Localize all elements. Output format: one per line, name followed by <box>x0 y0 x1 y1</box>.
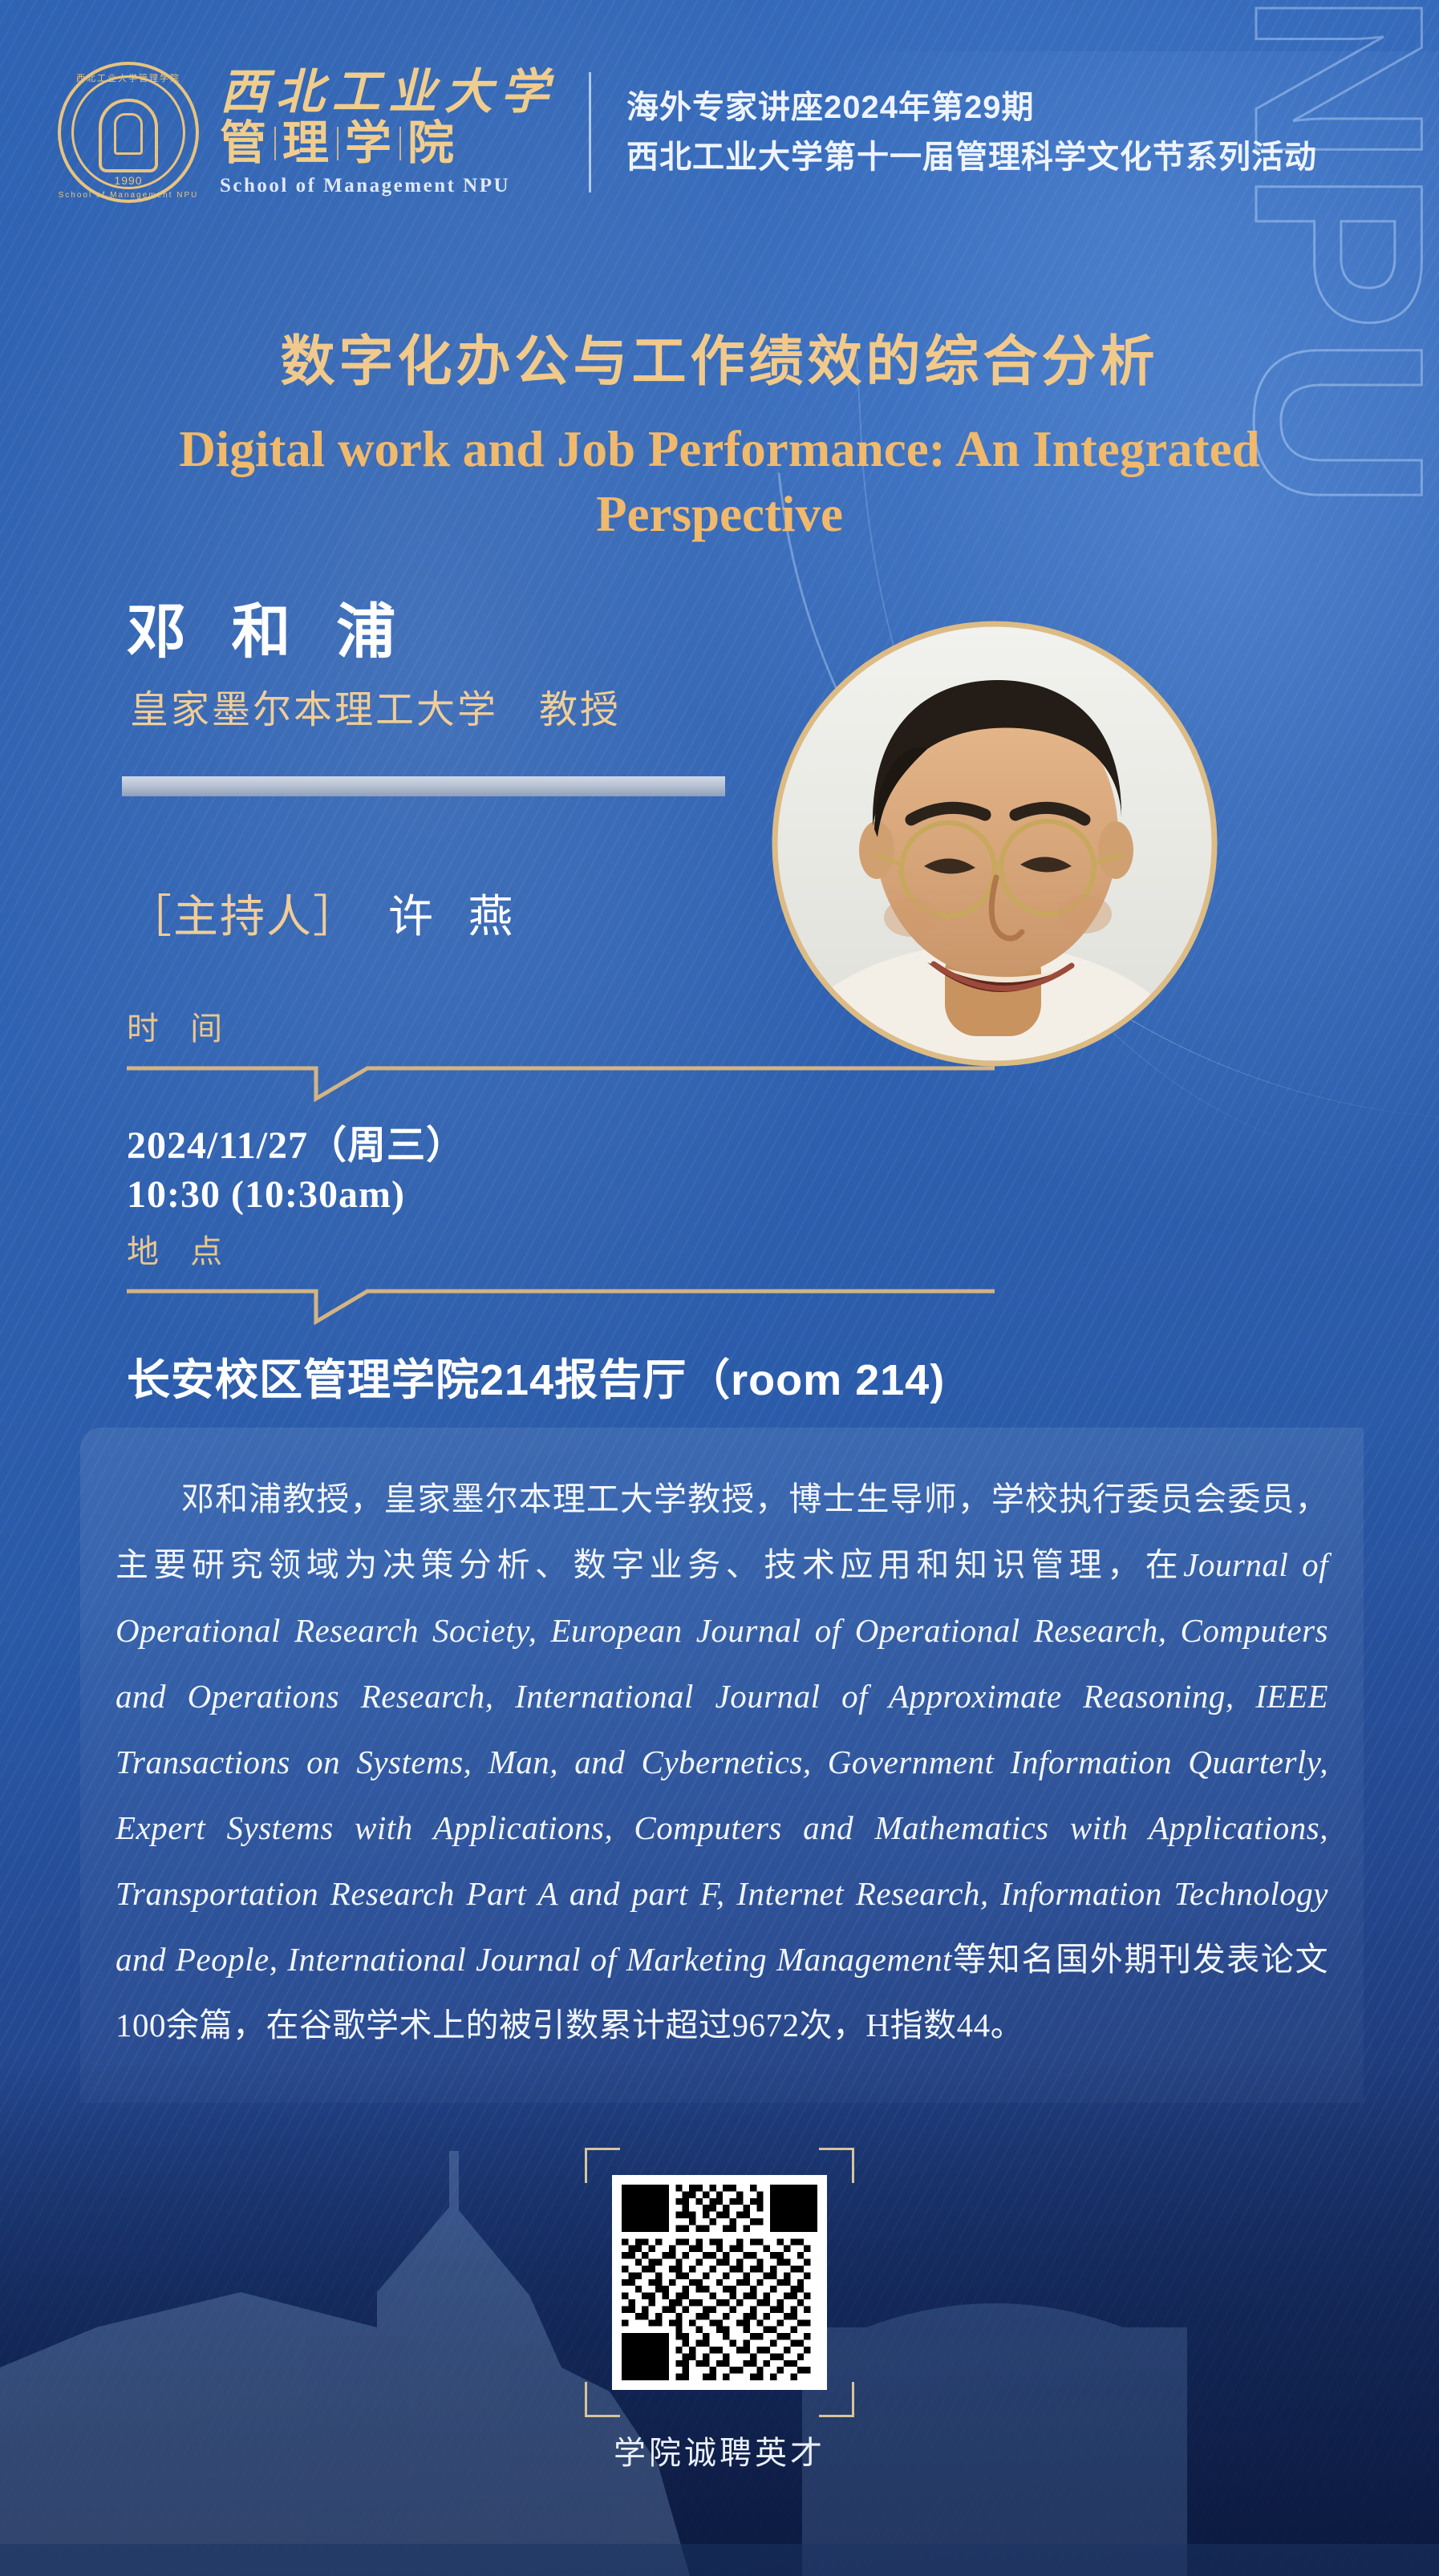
place-value: 长安校区管理学院214报告厅（room 214) <box>127 1344 1001 1407</box>
header-line-2: 西北工业大学第十一届管理科学文化节系列活动 <box>626 132 1317 182</box>
corner-bracket-bottom-left-icon <box>585 2382 620 2417</box>
time-clock: 10:30 (10:30am) <box>127 1170 1001 1219</box>
university-name-cn: 西北工业大学 <box>220 67 557 118</box>
speaker-portrait <box>770 619 1219 1068</box>
header-divider <box>589 72 591 192</box>
qr-caption: 学院诚聘英才 <box>612 2427 827 2473</box>
speaker-affiliation: 皇家墨尔本理工大学 教授 <box>130 678 621 734</box>
speaker-bio-text: 邓和浦教授，皇家墨尔本理工大学教授，博士生导师，学校执行委员会委员，主要研究领域… <box>116 1466 1328 2058</box>
silver-divider-bar <box>122 776 725 796</box>
logo-wordmark: 西北工业大学 管理学院 School of Management NPU <box>220 67 557 197</box>
seal-arc-top-text: 西北工业大学管理学院 <box>58 71 199 84</box>
corner-bracket-top-right-icon <box>819 2148 854 2183</box>
corner-bracket-bottom-right-icon <box>819 2382 854 2417</box>
time-value: 2024/11/27（周三） 10:30 (10:30am) <box>127 1121 1001 1220</box>
speaker-bio-panel: 邓和浦教授，皇家墨尔本理工大学教授，博士生导师，学校执行委员会委员，主要研究领域… <box>80 1428 1364 2103</box>
lecture-title-en: Digital work and Job Performance: An Int… <box>96 417 1343 546</box>
qr-code-icon[interactable] <box>612 2175 827 2390</box>
host-label: ［主持人］ <box>127 881 359 946</box>
header-series-info: 海外专家讲座2024年第29期 西北工业大学第十一届管理科学文化节系列活动 <box>626 83 1317 182</box>
school-name-cn: 管理学院 <box>220 119 557 168</box>
school-logo: 西北工业大学管理学院 1990 School of Management NPU… <box>58 62 557 203</box>
school-name-en: School of Management NPU <box>220 175 557 197</box>
bio-journal-list: Journal of Operational Research Society,… <box>116 1546 1328 1978</box>
place-field: 地 点 长安校区管理学院214报告厅（room 214) <box>127 1225 1001 1407</box>
place-notch-rule <box>127 1283 1001 1330</box>
qr-code-zone[interactable]: 学院诚聘英才 <box>612 2175 827 2473</box>
time-notch-rule <box>127 1060 1001 1107</box>
time-field: 时 间 2024/11/27（周三） 10:30 (10:30am) <box>127 1002 1001 1220</box>
time-label: 时 间 <box>127 1002 1001 1049</box>
lecture-title-cn: 数字化办公与工作绩效的综合分析 <box>96 317 1343 396</box>
place-label: 地 点 <box>127 1225 1001 1272</box>
seal-bell-glyph <box>99 99 158 172</box>
seal-arc-bottom-text: School of Management NPU <box>58 191 199 200</box>
speaker-name: 邓 和 浦 <box>127 584 410 670</box>
time-date: 2024/11/27（周三） <box>127 1121 1001 1170</box>
qr-frame <box>612 2175 827 2390</box>
lecture-poster: NPU 西北工业大学管理学院 1990 School of Management… <box>0 0 1439 2576</box>
poster-header: 西北工业大学管理学院 1990 School of Management NPU… <box>0 48 1439 217</box>
host-row: ［主持人］ 许 燕 <box>127 881 525 946</box>
corner-bracket-top-left-icon <box>585 2148 620 2183</box>
university-seal-icon: 西北工业大学管理学院 1990 School of Management NPU <box>58 62 199 203</box>
bio-part-1: 邓和浦教授，皇家墨尔本理工大学教授，博士生导师，学校执行委员会委员，主要研究领域… <box>116 1480 1328 1583</box>
lecture-title-block: 数字化办公与工作绩效的综合分析 Digital work and Job Per… <box>0 317 1439 546</box>
place-value-wrap: 长安校区管理学院214报告厅（room 214) <box>127 1344 1001 1407</box>
header-line-1: 海外专家讲座2024年第29期 <box>626 83 1317 132</box>
host-name: 许 燕 <box>388 881 525 946</box>
seal-year: 1990 <box>114 174 142 187</box>
